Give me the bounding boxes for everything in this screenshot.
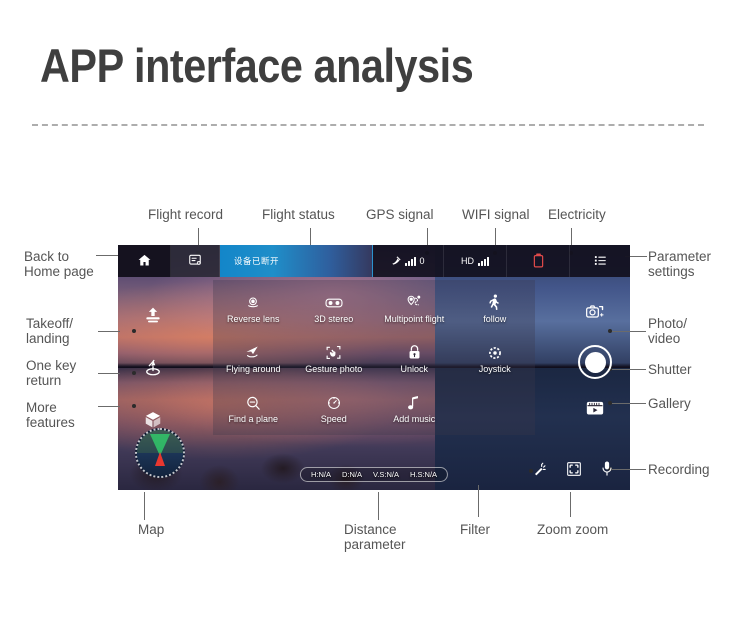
menu-item-3d-stereo[interactable]: 3D stereo: [294, 284, 375, 334]
recording-button[interactable]: [600, 460, 614, 482]
menu-label: 3D stereo: [314, 314, 353, 324]
vr-goggles-icon: [325, 295, 343, 311]
annotation-parameter-settings: Parameter settings: [648, 249, 711, 279]
magic-wand-icon: [532, 461, 548, 482]
leader-back-home: [96, 255, 120, 256]
menu-item-reverse-lens[interactable]: Reverse lens: [213, 284, 294, 334]
annotation-more-features: More features: [26, 400, 75, 430]
app-screen: 设备已断开 0 HD: [118, 245, 630, 490]
menu-item-flying-around[interactable]: Flying around: [213, 334, 294, 384]
annotation-flight-record: Flight record: [148, 207, 223, 222]
menu-label: Joystick: [479, 364, 511, 374]
annotation-electricity: Electricity: [548, 207, 606, 222]
leader-photo-video: [612, 331, 646, 332]
shutter-icon: [585, 352, 606, 373]
leader-takeoff-landing: [98, 331, 120, 332]
music-note-icon: [407, 395, 421, 411]
annotation-takeoff-landing: Takeoff/ landing: [26, 316, 73, 346]
annotation-distance-parameter: Distance parameter: [344, 522, 406, 552]
microphone-icon: [600, 460, 614, 482]
battery-indicator: [507, 245, 570, 277]
gallery-button[interactable]: [582, 397, 608, 423]
leader-distance-parameter: [378, 492, 379, 520]
menu-label: Multipoint flight: [384, 314, 444, 324]
gesture-frame-icon: [325, 345, 342, 361]
annotation-zoom-zoom: Zoom zoom: [537, 522, 608, 537]
zoom-button[interactable]: [566, 461, 582, 482]
one-key-return-icon: [143, 358, 163, 383]
status-bar: 设备已断开 0 HD: [118, 245, 630, 277]
camera-switch-icon: [585, 302, 605, 327]
title-divider: [32, 124, 704, 126]
distance-hspeed: H.S:N/A: [410, 470, 437, 479]
reverse-lens-icon: [245, 295, 261, 311]
list-settings-icon: [593, 253, 608, 270]
battery-empty-icon: [533, 253, 544, 270]
menu-label: Gesture photo: [305, 364, 362, 374]
menu-label: Add music: [393, 414, 435, 424]
leader-shutter: [612, 369, 646, 370]
home-icon: [137, 253, 152, 270]
compass-map[interactable]: [135, 428, 185, 478]
leader-filter: [478, 485, 479, 517]
takeoff-landing-button[interactable]: [140, 305, 166, 331]
parameter-settings-button[interactable]: [570, 245, 630, 277]
compass-needle: [155, 452, 165, 466]
annotation-shutter: Shutter: [648, 362, 692, 377]
menu-item-gesture-photo[interactable]: Gesture photo: [294, 334, 375, 384]
menu-item-add-music[interactable]: Add music: [374, 385, 455, 435]
annotation-gps-signal: GPS signal: [366, 207, 434, 222]
menu-label: Flying around: [226, 364, 281, 374]
lock-icon: [407, 345, 422, 361]
annotation-gallery: Gallery: [648, 396, 691, 411]
menu-item-multipoint-flight[interactable]: Multipoint flight: [374, 284, 455, 334]
wifi-signal-bars: [478, 257, 489, 266]
flight-record-button[interactable]: [171, 245, 220, 277]
menu-label: Reverse lens: [227, 314, 280, 324]
zoom-frame-icon: [566, 461, 582, 482]
gps-signal-indicator: 0: [373, 245, 444, 277]
menu-item-unlock[interactable]: Unlock: [374, 334, 455, 384]
annotation-flight-status: Flight status: [262, 207, 335, 222]
filter-button[interactable]: [532, 461, 548, 482]
distance-distance: D:N/A: [342, 470, 362, 479]
flight-record-icon: [188, 253, 202, 269]
right-control-rail: [578, 301, 612, 441]
leader-one-key-return: [98, 373, 120, 374]
leader-more-features: [98, 406, 120, 407]
annotation-map: Map: [138, 522, 164, 537]
menu-label: Find a plane: [228, 414, 278, 424]
wifi-quality-label: HD: [461, 256, 474, 266]
flight-status-text: 设备已断开: [234, 255, 279, 267]
takeoff-landing-icon: [143, 306, 163, 331]
paper-plane-orbit-icon: [244, 345, 262, 361]
menu-item-find-a-plane[interactable]: Find a plane: [213, 385, 294, 435]
home-button[interactable]: [118, 245, 171, 277]
distance-height: H:N/A: [311, 470, 331, 479]
photo-video-toggle[interactable]: [582, 301, 608, 327]
menu-item-joystick[interactable]: Joystick: [455, 334, 536, 384]
leader-recording: [612, 469, 646, 470]
wifi-signal-indicator: HD: [444, 245, 507, 277]
gps-satellite-icon: [391, 255, 402, 268]
annotation-one-key-return: One key return: [26, 358, 76, 388]
distance-vspeed: V.S:N/A: [373, 470, 399, 479]
joystick-ring-icon: [487, 345, 503, 361]
leader-dot-one-key-return: [132, 371, 136, 375]
feature-menu-overlay: Reverse lens 3D stereo Multipoint fl: [213, 280, 535, 435]
leader-zoom: [570, 492, 571, 517]
gps-count: 0: [419, 256, 424, 266]
bottom-tool-bar: [532, 460, 614, 482]
shutter-button[interactable]: [578, 345, 612, 379]
menu-label: Speed: [321, 414, 347, 424]
annotation-recording: Recording: [648, 462, 710, 477]
walking-person-icon: [487, 295, 502, 311]
leader-dot-more-features: [132, 404, 136, 408]
map-pin-route-icon: [405, 295, 423, 311]
distance-parameter-bar: H:N/A D:N/A V.S:N/A H.S:N/A: [300, 467, 448, 482]
find-plane-magnifier-icon: [245, 395, 262, 411]
one-key-return-button[interactable]: [140, 357, 166, 383]
annotation-back-home: Back to Home page: [24, 249, 94, 279]
leader-map: [144, 492, 145, 520]
leader-gallery: [612, 403, 646, 404]
menu-label: follow: [483, 314, 506, 324]
annotation-photo-video: Photo/ video: [648, 316, 687, 346]
annotation-wifi-signal: WIFI signal: [462, 207, 530, 222]
menu-item-follow[interactable]: follow: [455, 284, 536, 334]
gallery-film-icon: [585, 398, 605, 423]
menu-label: Unlock: [400, 364, 428, 374]
speedometer-icon: [326, 395, 342, 411]
menu-item-speed[interactable]: Speed: [294, 385, 375, 435]
annotation-filter: Filter: [460, 522, 490, 537]
gps-signal-bars: [405, 257, 416, 266]
page-title: APP interface analysis: [40, 38, 473, 93]
leader-dot-takeoff-landing: [132, 329, 136, 333]
flight-status-banner: 设备已断开: [220, 245, 373, 277]
